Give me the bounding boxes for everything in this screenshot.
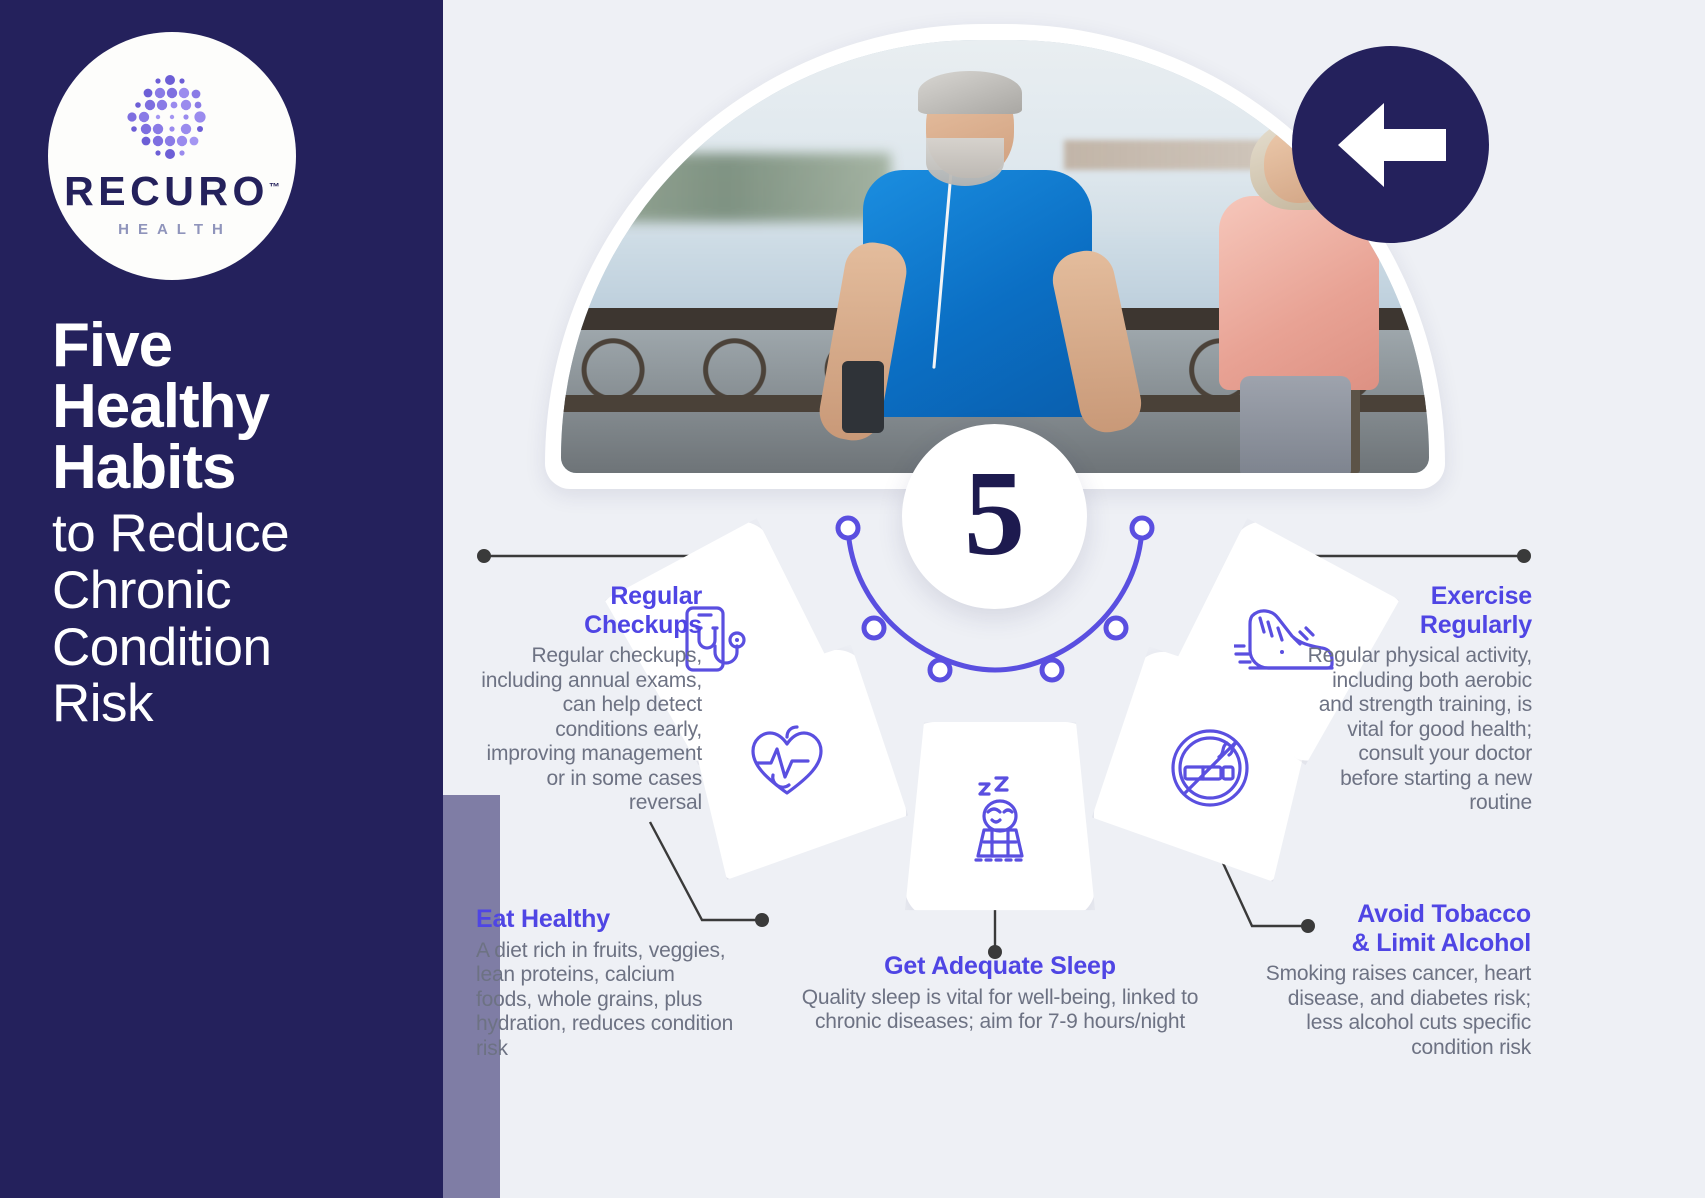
heart-apple-pulse-icon (743, 723, 837, 809)
brand-name: RECURO™ (64, 171, 280, 212)
habit-text-regular-checkups: Regular Checkups Regular checkups, inclu… (476, 582, 702, 816)
habit-body-exercise-regularly: Regular physical activity, including bot… (1300, 644, 1532, 816)
habit-text-get-adequate-sleep: Get Adequate Sleep Quality sleep is vita… (800, 952, 1200, 1035)
left-panel: RECURO™ HEALTH Five Healthy Habits to Re… (0, 0, 443, 1198)
photo-subject-man (847, 75, 1107, 473)
habit-title-get-adequate-sleep: Get Adequate Sleep (800, 952, 1200, 981)
habit-body-regular-checkups: Regular checkups, including annual exams… (476, 644, 702, 816)
habit-title-eat-healthy: Eat Healthy (476, 905, 734, 934)
brand-logo: RECURO™ HEALTH (48, 32, 296, 280)
page-title: Five Healthy Habits to Reduce Chronic Co… (52, 316, 422, 733)
back-button[interactable] (1292, 46, 1489, 243)
hero-photo (561, 40, 1429, 473)
habit-title-avoid-tobacco: Avoid Tobacco & Limit Alcohol (1265, 900, 1531, 957)
headline-bold: Five Healthy Habits (52, 316, 422, 498)
brand-trademark: ™ (269, 181, 280, 193)
habit-text-avoid-tobacco: Avoid Tobacco & Limit Alcohol Smoking ra… (1265, 900, 1531, 1060)
arrow-left-icon (1332, 99, 1450, 191)
infographic-canvas: RECURO™ HEALTH Five Healthy Habits to Re… (0, 0, 1705, 1198)
habit-body-avoid-tobacco: Smoking raises cancer, heart disease, an… (1265, 962, 1531, 1060)
dot-matrix-logo-icon (124, 75, 220, 163)
sleeping-person-zzz-icon (954, 772, 1046, 868)
habit-title-regular-checkups: Regular Checkups (476, 582, 702, 639)
no-smoking-icon (1163, 721, 1257, 815)
habit-body-eat-healthy: A diet rich in fruits, veggies, lean pro… (476, 939, 734, 1062)
habit-body-get-adequate-sleep: Quality sleep is vital for well-being, l… (800, 986, 1200, 1035)
habit-card-get-adequate-sleep[interactable] (905, 722, 1095, 918)
habit-text-eat-healthy: Eat Healthy A diet rich in fruits, veggi… (476, 905, 734, 1061)
brand-name-text: RECURO (64, 168, 269, 214)
center-count-number: 5 (964, 453, 1025, 575)
habit-title-exercise-regularly: Exercise Regularly (1300, 582, 1532, 639)
headline-light: to Reduce Chronic Condition Risk (52, 506, 422, 733)
habit-text-exercise-regularly: Exercise Regularly Regular physical acti… (1300, 582, 1532, 816)
brand-tagline: HEALTH (118, 221, 232, 238)
center-count-badge: 5 (902, 424, 1087, 609)
